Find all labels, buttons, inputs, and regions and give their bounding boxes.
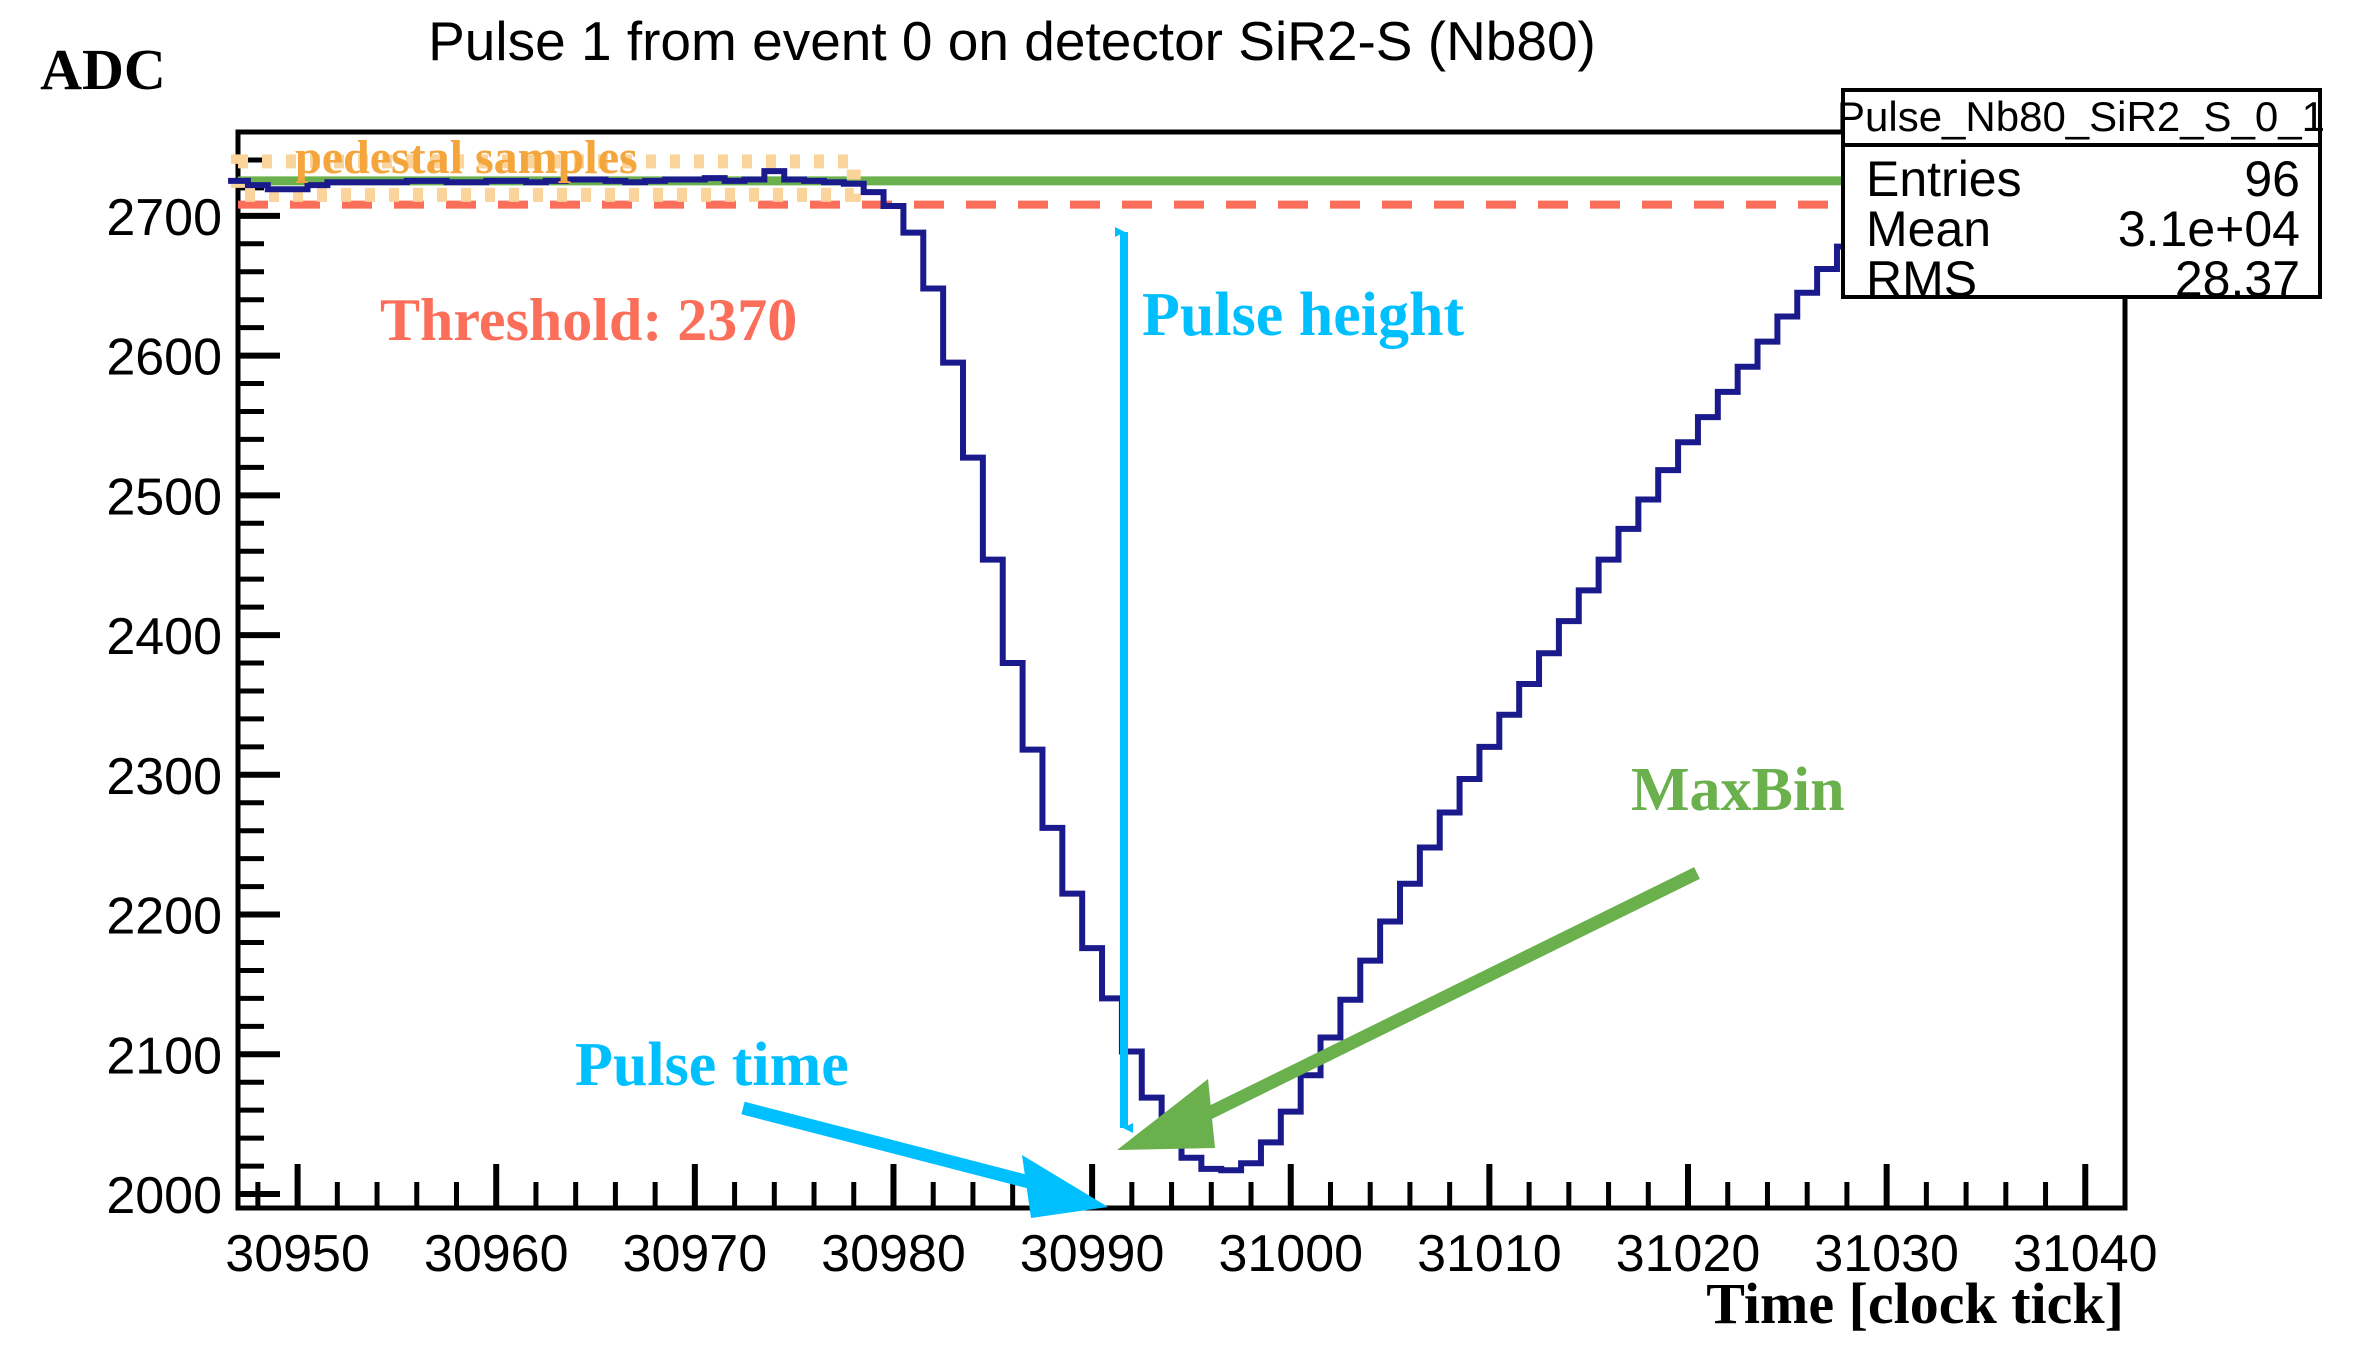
x-tick-label: 31040 (2013, 1225, 2158, 1283)
x-tick-label: 31000 (1218, 1225, 1363, 1283)
y-tick-label: 2700 (106, 189, 222, 247)
stats-row-value: 96 (2244, 151, 2300, 207)
x-tick-label: 31030 (1814, 1225, 1959, 1283)
x-tick-label: 30990 (1020, 1225, 1165, 1283)
stats-box-title: Pulse_Nb80_SiR2_S_0_1 (1837, 93, 2325, 140)
x-tick-label: 31010 (1417, 1225, 1562, 1283)
pulse-time-arrow (743, 1108, 1108, 1218)
y-axis-title: ADC (40, 37, 166, 102)
reference-lines (238, 181, 2026, 205)
chart-canvas: Pulse 1 from event 0 on detector SiR2-S … (0, 0, 2362, 1345)
y-axis-ticks (238, 132, 280, 1194)
x-axis-tick-labels: 3095030960309703098030990310003101031020… (225, 1225, 2157, 1283)
y-tick-label: 2400 (106, 608, 222, 666)
x-tick-label: 30950 (225, 1225, 370, 1283)
x-tick-label: 30970 (623, 1225, 768, 1283)
annotation-maxbin: MaxBin (1631, 756, 1845, 824)
y-tick-label: 2100 (106, 1027, 222, 1085)
annotation-pulse-time: Pulse time (575, 1031, 849, 1099)
root-plot-svg: Pulse 1 from event 0 on detector SiR2-S … (0, 0, 2362, 1345)
y-tick-label: 2300 (106, 748, 222, 806)
annotation-pedestal-samples: pedestal samples (295, 131, 638, 184)
stats-row-value: 3.1e+04 (2118, 201, 2300, 257)
x-tick-label: 30980 (821, 1225, 966, 1283)
x-axis-ticks (258, 1164, 2125, 1208)
stats-row-label: RMS (1866, 251, 1977, 307)
stats-row-value: 28.37 (2175, 251, 2300, 307)
x-tick-label: 31020 (1616, 1225, 1761, 1283)
maxbin-arrow (1117, 873, 1697, 1150)
y-tick-label: 2600 (106, 329, 222, 387)
annotation-pulse-height: Pulse height (1142, 281, 1464, 349)
stats-row-label: Entries (1866, 151, 2022, 207)
y-tick-label: 2000 (106, 1167, 222, 1225)
y-tick-label: 2500 (106, 468, 222, 526)
y-tick-label: 2200 (106, 888, 222, 946)
x-tick-label: 30960 (424, 1225, 569, 1283)
y-axis-tick-labels: 20002100220023002400250026002700 (106, 189, 222, 1225)
annotation-threshold: Threshold: 2370 (380, 287, 797, 353)
page-title: Pulse 1 from event 0 on detector SiR2-S … (428, 10, 1596, 72)
stats-row-label: Mean (1866, 201, 1991, 257)
stats-box[interactable]: Pulse_Nb80_SiR2_S_0_1 Entries96Mean3.1e+… (1837, 90, 2325, 307)
